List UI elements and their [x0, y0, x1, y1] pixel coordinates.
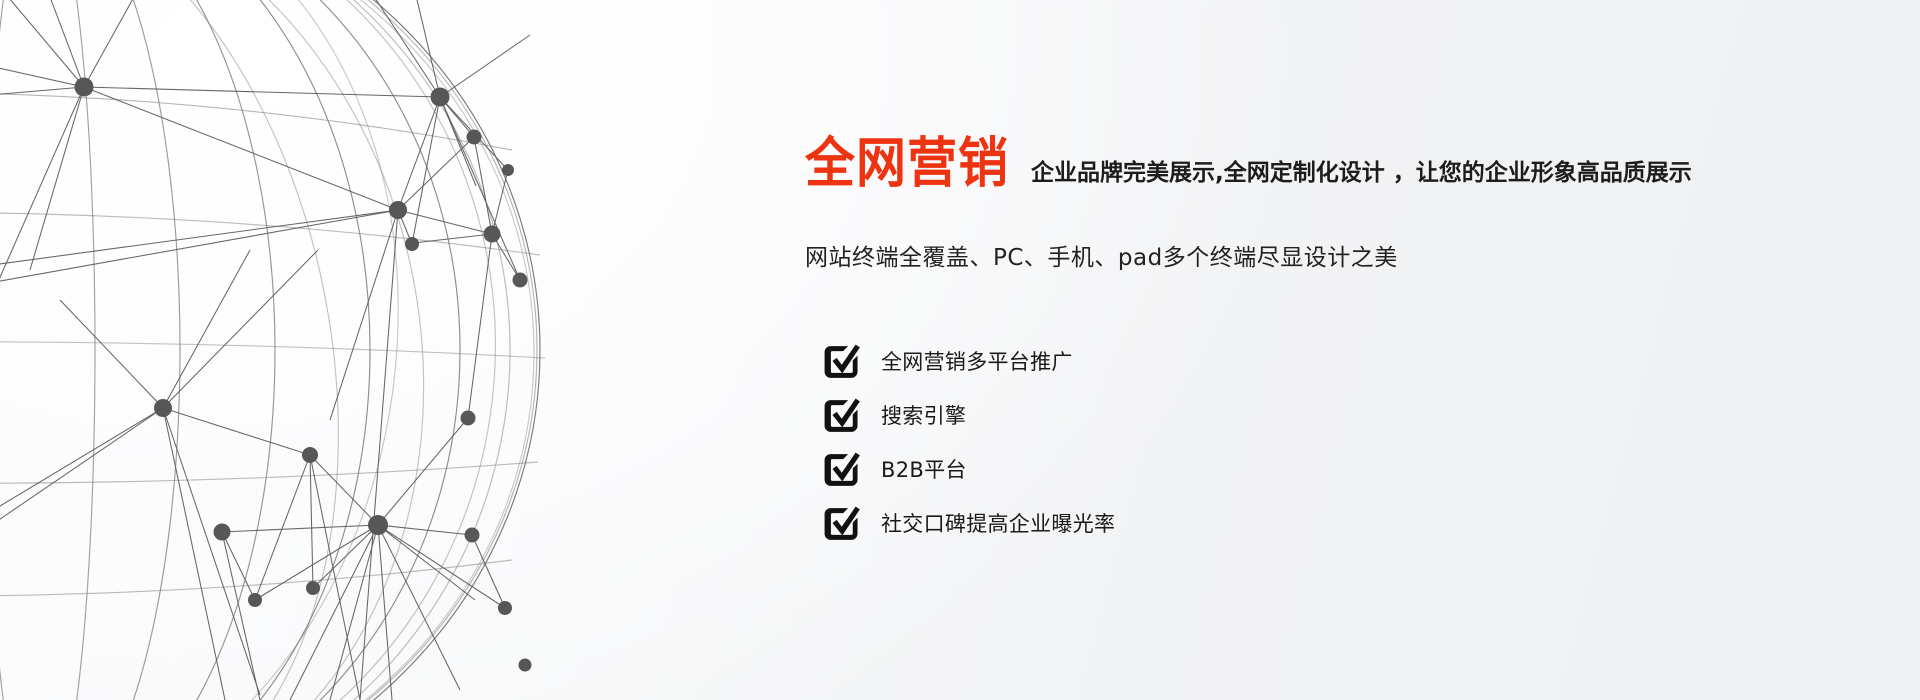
- headline-row: 全网营销 企业品牌完美展示,全网定制化设计 ，让您的企业形象高品质展示: [805, 140, 1692, 190]
- list-item: 搜索引擎: [823, 396, 1115, 436]
- banner-content: 全网营销 企业品牌完美展示,全网定制化设计 ，让您的企业形象高品质展示 网站终端…: [805, 0, 1865, 700]
- network-globe-graphic: [0, 0, 720, 700]
- list-item-label: 全网营销多平台推广: [881, 352, 1073, 373]
- list-item: 社交口碑提高企业曝光率: [823, 504, 1115, 544]
- list-item-label: 搜索引擎: [881, 406, 966, 427]
- marketing-banner: 全网营销 企业品牌完美展示,全网定制化设计 ，让您的企业形象高品质展示 网站终端…: [0, 0, 1920, 700]
- list-item-label: B2B平台: [881, 460, 967, 481]
- list-item: 全网营销多平台推广: [823, 342, 1115, 382]
- checkbox-checked-icon: [823, 505, 861, 543]
- feature-list: 全网营销多平台推广 搜索引擎 B2B平台: [823, 342, 1115, 544]
- page-title: 全网营销: [805, 136, 1009, 190]
- list-item: B2B平台: [823, 450, 1115, 490]
- headline-subtitle: 企业品牌完美展示,全网定制化设计 ，让您的企业形象高品质展示: [1031, 162, 1692, 190]
- banner-description: 网站终端全覆盖、PC、手机、pad多个终端尽显设计之美: [805, 247, 1398, 270]
- checkbox-checked-icon: [823, 397, 861, 435]
- list-item-label: 社交口碑提高企业曝光率: [881, 514, 1115, 535]
- checkbox-checked-icon: [823, 343, 861, 381]
- checkbox-checked-icon: [823, 451, 861, 489]
